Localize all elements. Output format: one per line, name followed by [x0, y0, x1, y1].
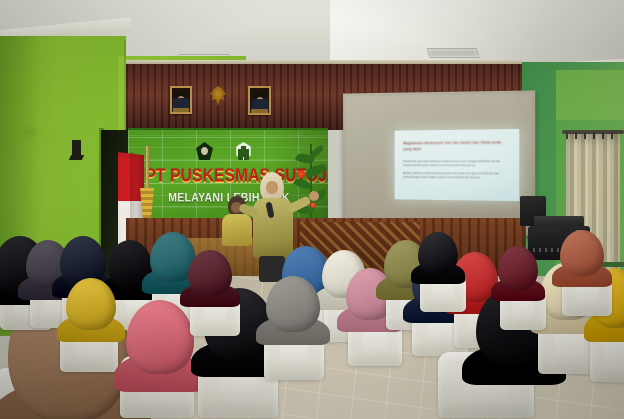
attendee-hijab: [498, 246, 538, 290]
attendee-hijab: [126, 300, 194, 374]
portrait-nameplate: [251, 109, 268, 113]
attendee-hijab: [266, 276, 320, 332]
attendee-hijab: [418, 232, 458, 274]
puskesmas-cross-emblem: [235, 142, 252, 160]
projected-slide: Bagaimana Memenuhi Gizi Ibu Hamil dan Pa…: [395, 129, 520, 201]
meeting-hall-photo: UPT PUSKESMAS SUTOJAYAN MELAYANI LEBIH B…: [0, 0, 624, 419]
projection-screen-surface: Bagaimana Memenuhi Gizi Ibu Hamil dan Pa…: [346, 93, 532, 232]
wall-mount-bracket: [72, 140, 81, 157]
presenter-face: [266, 181, 278, 194]
attendee-floral-hijab: [560, 230, 604, 276]
curtain-rings: [566, 132, 620, 139]
attendee-yellow-hijab: [66, 278, 116, 330]
slide-paragraph: Pemenuhan gizi yang seimbang sangat pent…: [403, 160, 510, 169]
president-portrait: [170, 86, 192, 114]
wall-scuff: [22, 128, 36, 136]
portrait-nameplate: [173, 108, 189, 112]
slide-body: Pemenuhan gizi yang seimbang sangat pent…: [403, 160, 510, 184]
plant-leaf: [305, 164, 327, 178]
attendee-hijab: [66, 278, 116, 330]
attendee-hijab: [188, 250, 232, 296]
projection-screen: Bagaimana Memenuhi Gizi Ibu Hamil dan Pa…: [343, 90, 535, 235]
attendee-burgundy-hijab: [498, 246, 538, 290]
plant-flower: [310, 202, 316, 208]
slide-paragraph: Berikan makanan bergizi seimbang pada an…: [403, 172, 510, 181]
vice-president-portrait: [248, 86, 271, 115]
attendee-dark-hijab-right: [418, 232, 458, 274]
attendee-grey-hijab: [266, 276, 320, 332]
presenter-hand: [309, 191, 319, 201]
attendee-checker-hijab: [126, 300, 194, 374]
garuda-pancasila-emblem: [203, 82, 233, 113]
ministry-of-health-emblem: [196, 142, 213, 160]
slide-heading: Bagaimana Memenuhi Gizi Ibu Hamil dan Pa…: [403, 139, 510, 152]
attendee-maroon-hijab: [188, 250, 232, 296]
attendee-hijab: [560, 230, 604, 276]
